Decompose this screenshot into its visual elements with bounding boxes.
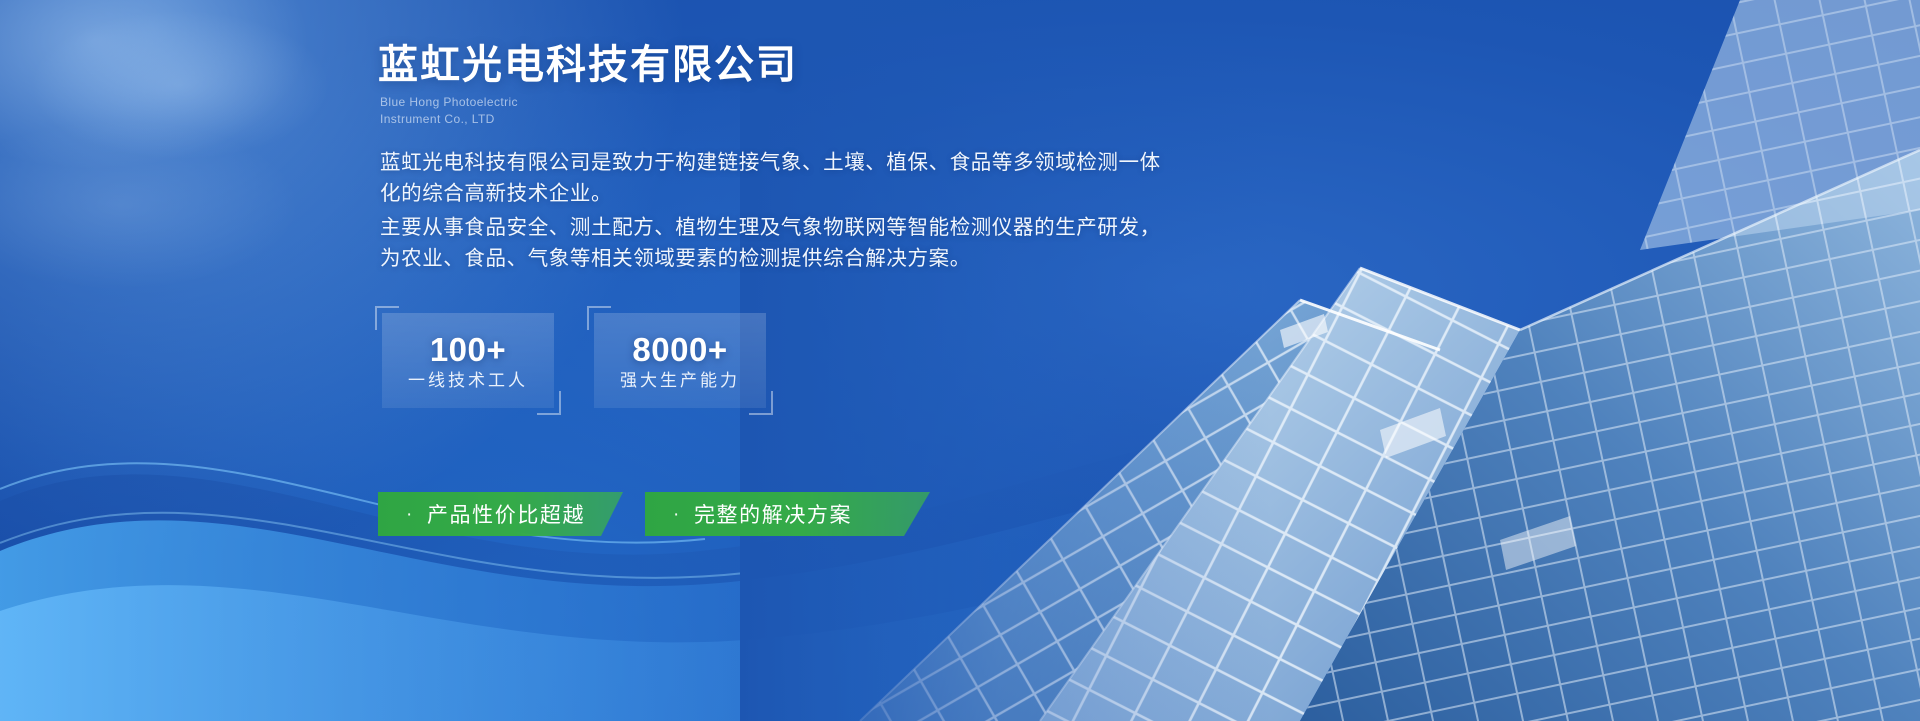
feature-pill-label: 产品性价比超越 xyxy=(427,499,585,529)
hero-banner: 蓝虹光电科技有限公司 Blue Hong Photoelectric Instr… xyxy=(0,0,1920,721)
cloud-wisp-icon xyxy=(30,10,330,160)
company-name-en-line2: Instrument Co., LTD xyxy=(380,111,518,128)
stats-group: 100+ 一线技术工人 8000+ 强大生产能力 xyxy=(382,313,766,408)
stat-value: 100+ xyxy=(430,333,506,366)
stat-card-capacity: 8000+ 强大生产能力 xyxy=(594,313,766,408)
description-p1-line2: 化的综合高新技术企业。 xyxy=(380,178,1180,209)
stat-label: 一线技术工人 xyxy=(408,372,528,389)
company-name-en-line1: Blue Hong Photoelectric xyxy=(380,94,518,111)
bullet-icon: · xyxy=(406,505,414,524)
cloud-wisp-icon xyxy=(0,0,310,170)
cloud-wisp-icon xyxy=(0,120,300,290)
description-paragraph-1: 蓝虹光电科技有限公司是致力于构建链接气象、土壤、植保、食品等多领域检测一体 化的… xyxy=(380,147,1180,209)
description-p1-line1: 蓝虹光电科技有限公司是致力于构建链接气象、土壤、植保、食品等多领域检测一体 xyxy=(380,147,1180,178)
description-paragraph-2: 主要从事食品安全、测土配方、植物生理及气象物联网等智能检测仪器的生产研发， 为农… xyxy=(380,212,1180,274)
bullet-icon: · xyxy=(673,505,681,524)
stat-value: 8000+ xyxy=(632,333,727,366)
company-name-cn: 蓝虹光电科技有限公司 xyxy=(378,40,798,90)
feature-pills-group: · 产品性价比超越 · 完整的解决方案 xyxy=(378,492,930,536)
description-p2-line2: 为农业、食品、气象等相关领域要素的检测提供综合解决方案。 xyxy=(380,243,1180,274)
stat-card-workers: 100+ 一线技术工人 xyxy=(382,313,554,408)
feature-pill-label: 完整的解决方案 xyxy=(694,499,852,529)
feature-pill-value[interactable]: · 产品性价比超越 xyxy=(378,492,623,536)
description-p2-line1: 主要从事食品安全、测土配方、植物生理及气象物联网等智能检测仪器的生产研发， xyxy=(380,212,1180,243)
hero-content: 蓝虹光电科技有限公司 Blue Hong Photoelectric Instr… xyxy=(378,0,1558,721)
feature-pill-solution[interactable]: · 完整的解决方案 xyxy=(645,492,930,536)
stat-label: 强大生产能力 xyxy=(620,372,740,389)
company-name-en: Blue Hong Photoelectric Instrument Co., … xyxy=(380,94,518,129)
